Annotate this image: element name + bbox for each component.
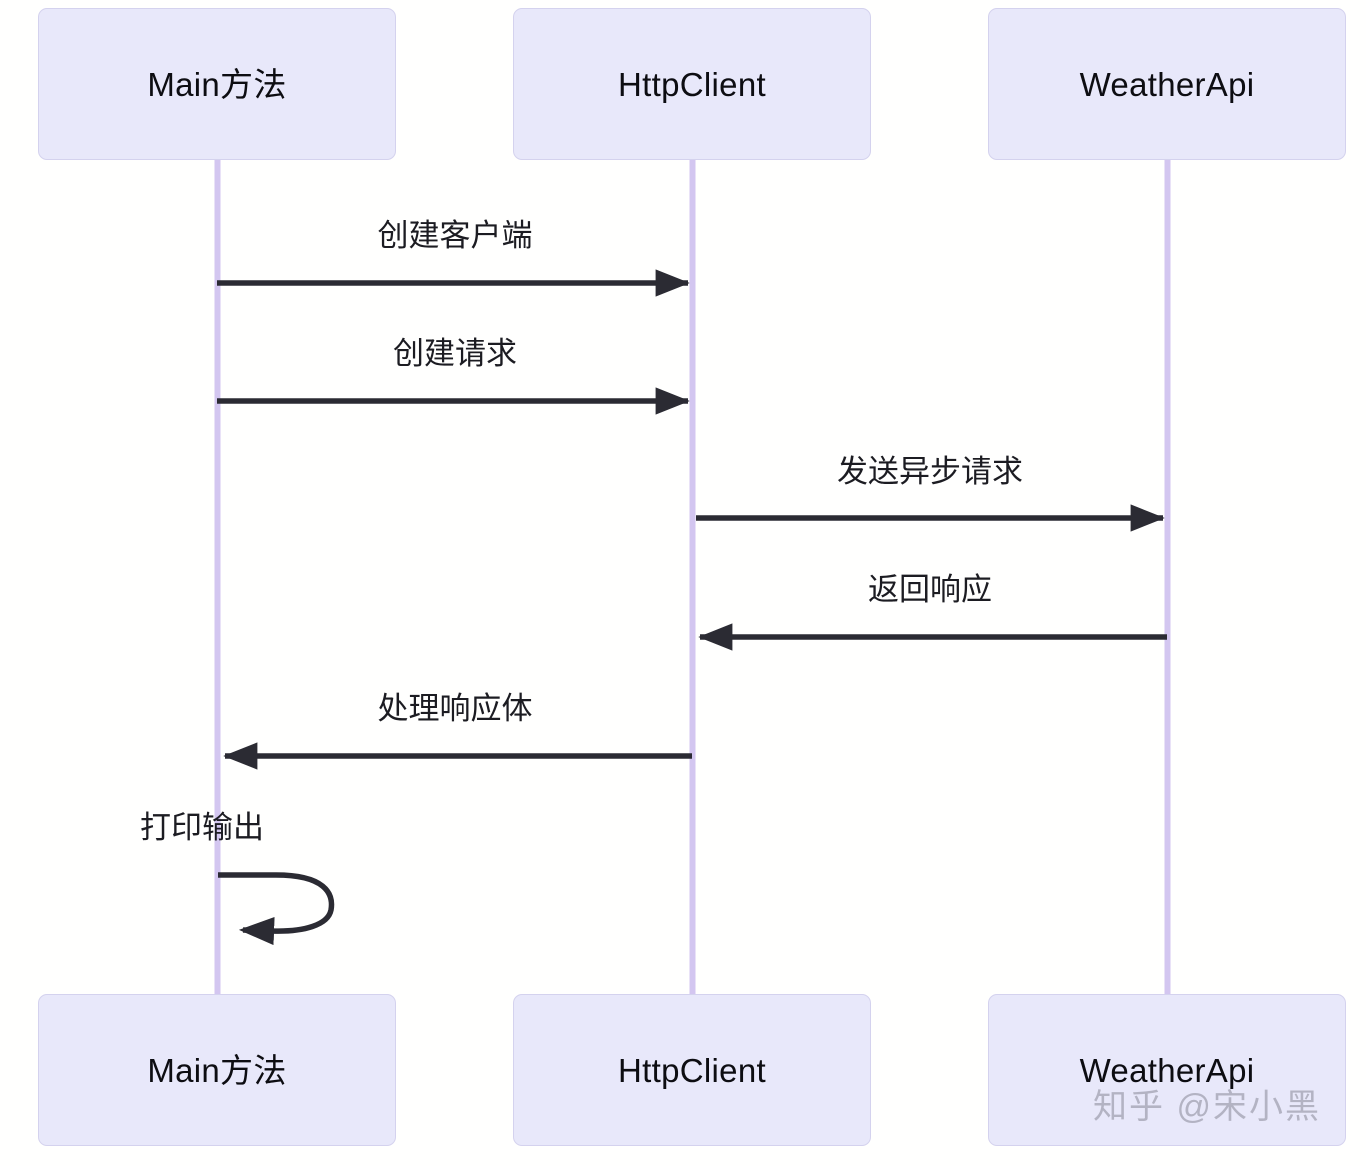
participant-box-weatherapi-top[interactable]: WeatherApi <box>988 8 1346 160</box>
message-arrow-m6-self-loop <box>218 875 331 931</box>
participant-box-httpclient-top[interactable]: HttpClient <box>513 8 871 160</box>
message-label-m5: 处理响应体 <box>378 693 533 724</box>
participant-label-httpclient-bottom: HttpClient <box>618 1054 766 1087</box>
lifelines <box>218 160 1168 1000</box>
sequence-diagram-graphics <box>0 0 1366 1166</box>
participant-label-weatherapi-bottom: WeatherApi <box>1080 1054 1255 1087</box>
message-label-m6: 打印输出 <box>140 812 264 843</box>
participant-box-main-top[interactable]: Main方法 <box>38 8 396 160</box>
participant-label-main-top: Main方法 <box>147 68 286 101</box>
participant-label-httpclient-top: HttpClient <box>618 68 766 101</box>
participant-box-httpclient-bottom[interactable]: HttpClient <box>513 994 871 1146</box>
message-label-m3: 发送异步请求 <box>837 456 1023 487</box>
message-label-m2: 创建请求 <box>393 338 517 369</box>
participant-label-weatherapi-top: WeatherApi <box>1080 68 1255 101</box>
participant-box-weatherapi-bottom[interactable]: WeatherApi <box>988 994 1346 1146</box>
participant-box-main-bottom[interactable]: Main方法 <box>38 994 396 1146</box>
message-label-m1: 创建客户端 <box>378 220 533 251</box>
message-label-m4: 返回响应 <box>868 574 992 605</box>
participant-label-main-bottom: Main方法 <box>147 1054 286 1087</box>
sequence-diagram-canvas: Main方法 HttpClient WeatherApi Main方法 Http… <box>0 0 1366 1166</box>
